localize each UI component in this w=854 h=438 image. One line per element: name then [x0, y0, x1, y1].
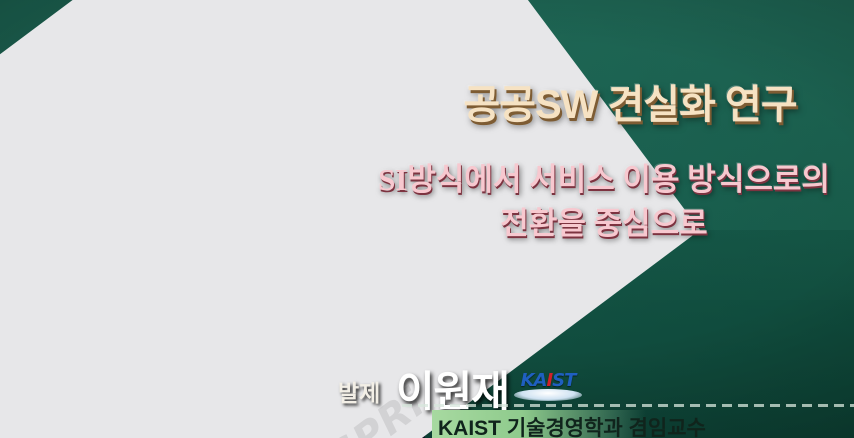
lower-third: 발제 이원재 KAIST KAIST 기술경영학과 겸임교수 — [336, 360, 854, 438]
lower-third-divider — [402, 404, 854, 407]
page-subtitle: SI방식에서 서비스 이용 방식으로의 전환을 중심으로 — [360, 158, 848, 246]
subtitle-line-1: SI방식에서 서비스 이용 방식으로의 — [360, 158, 848, 202]
video-frame: SPRi SPRi SPRi SPRi 공공SW 견실화 연구 SI방식에서 서… — [0, 0, 854, 438]
kaist-logo: KAIST — [512, 370, 584, 400]
speaker-role-label: 발제 — [338, 374, 380, 408]
kaist-logo-part1: KA — [521, 370, 547, 391]
page-title: 공공SW 견실화 연구 — [424, 84, 836, 126]
kaist-logo-text: KAIST — [512, 370, 584, 391]
kaist-logo-part2: ST — [552, 370, 575, 391]
speaker-organization: KAIST 기술경영학과 겸임교수 — [438, 412, 706, 438]
organization-bar: KAIST 기술경영학과 겸임교수 — [432, 410, 854, 438]
subtitle-line-2: 전환을 중심으로 — [360, 202, 848, 246]
